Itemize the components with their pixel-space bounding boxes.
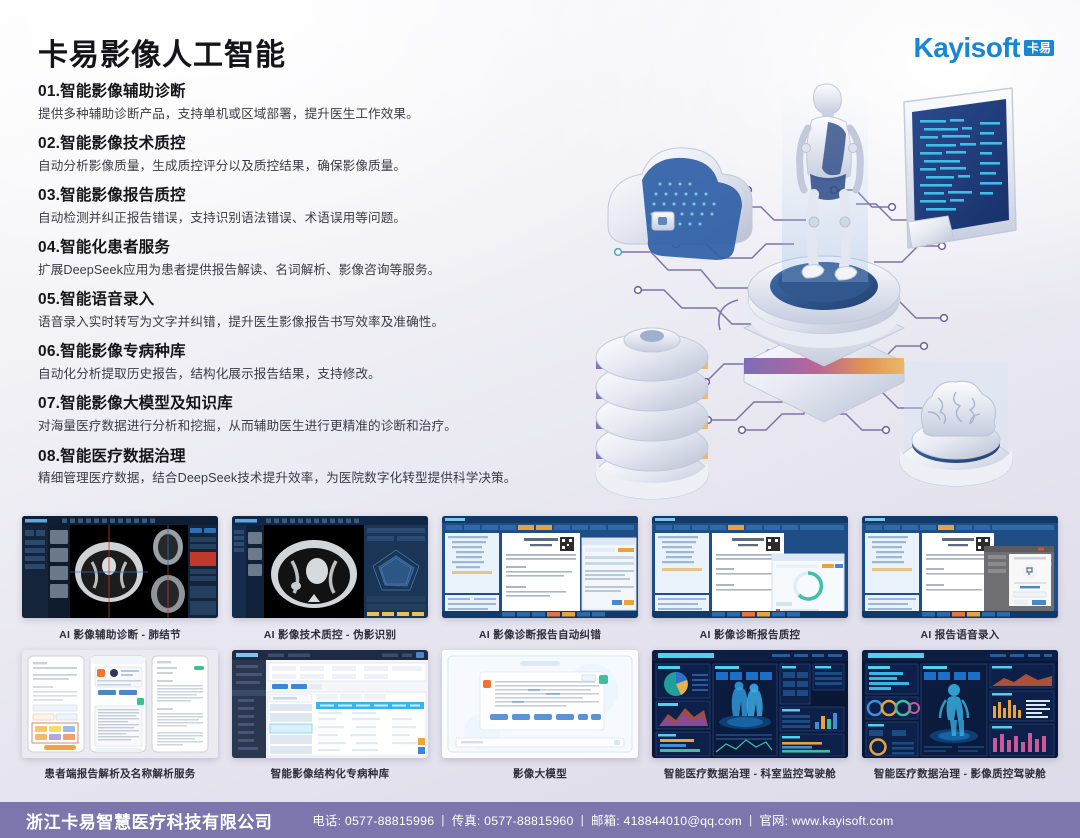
feature-heading: 07.智能影像大模型及知识库 [38,394,558,414]
screenshot-chat-llm[interactable] [442,650,638,758]
feature-item: 05.智能语音录入 语音录入实时转写为文字并纠错，提升医生影像报告书写效率及准确… [38,290,558,331]
code-monitor-icon [904,88,1016,248]
feature-description: 精细管理医疗数据，结合DeepSeek技术提升效率，为医院数字化转型提供科学决策… [38,469,558,487]
ai-isometric-illustration [556,62,1076,510]
gallery-item: AI 影像诊断报告自动纠错 [442,516,638,642]
feature-item: 02.智能影像技术质控 自动分析影像质量，生成质控评分以及质控结果，确保影像质量… [38,134,558,175]
footer-contact-info: 电话: 0577-88815996 | 传真: 0577-88815960 | … [312,811,893,829]
screenshot-report-voice-dialog[interactable] [862,516,1058,618]
gallery-caption: AI 影像辅助诊断 - 肺结节 [59,627,181,642]
footer-fax: 传真: 0577-88815960 [452,811,574,829]
footer-separator: | [441,813,444,827]
feature-item: 06.智能影像专病种库 自动化分析提取历史报告，结构化展示报告结果，支持修改。 [38,342,558,383]
database-stack-icon [596,328,708,499]
screenshot-bi-dashboard-body[interactable] [862,650,1058,758]
feature-description: 扩展DeepSeek应用为患者提供报告解读、名词解析、影像咨询等服务。 [38,261,558,279]
feature-item: 01.智能影像辅助诊断 提供多种辅助诊断产品，支持单机或区域部署，提升医生工作效… [38,82,558,123]
feature-item: 04.智能化患者服务 扩展DeepSeek应用为患者提供报告解读、名词解析、影像… [38,238,558,279]
screenshot-mobile-trio[interactable] [22,650,218,758]
feature-heading: 04.智能化患者服务 [38,238,558,258]
feature-heading: 01.智能影像辅助诊断 [38,82,558,102]
screenshot-ct-radar-dark[interactable] [232,516,428,618]
feature-description: 语音录入实时转写为文字并纠错，提升医生影像报告书写效率及准确性。 [38,313,558,331]
gallery-caption: AI 报告语音录入 [920,627,999,642]
gallery-row-1: AI 影像辅助诊断 - 肺结节 [22,516,1058,642]
logo-cn-badge: 卡易 [1024,40,1054,57]
screenshot-report-editor[interactable] [442,516,638,618]
footer-separator: | [581,813,584,827]
feature-item: 03.智能影像报告质控 自动检测并纠正报告错误，支持识别语法错误、术语误用等问题… [38,186,558,227]
feature-description: 自动化分析提取历史报告，结构化展示报告结果，支持修改。 [38,365,558,383]
footer-separator: | [749,813,752,827]
gallery-item: 影像大模型 [442,650,638,781]
gallery-item: 智能医疗数据治理 - 科室监控驾驶舱 [652,650,848,781]
poster-page: 卡易影像人工智能 Kayisoft 卡易 01.智能影像辅助诊断 提供多种辅助诊… [0,0,1080,838]
gallery-item: AI 影像技术质控 - 伪影识别 [232,516,428,642]
feature-description: 自动分析影像质量，生成质控评分以及质控结果，确保影像质量。 [38,157,558,175]
feature-heading: 05.智能语音录入 [38,290,558,310]
feature-item: 08.智能医疗数据治理 精细管理医疗数据，结合DeepSeek技术提升效率，为医… [38,447,558,488]
feature-item: 07.智能影像大模型及知识库 对海量医疗数据进行分析和挖掘，从而辅助医生进行更精… [38,394,558,435]
footer-bar: 浙江卡易智慧医疗科技有限公司 电话: 0577-88815996 | 传真: 0… [0,802,1080,838]
gallery-caption: 智能影像结构化专病种库 [271,766,390,781]
footer-phone: 电话: 0577-88815996 [312,811,434,829]
feature-heading: 03.智能影像报告质控 [38,186,558,206]
gallery-item: AI 影像辅助诊断 - 肺结节 [22,516,218,642]
feature-heading: 02.智能影像技术质控 [38,134,558,154]
feature-description: 提供多种辅助诊断产品，支持单机或区域部署，提升医生工作效果。 [38,105,558,123]
gallery-caption: 智能医疗数据治理 - 影像质控驾驶舱 [874,766,1046,781]
gallery-caption: 患者端报告解析及名称解析服务 [44,766,195,781]
screenshot-report-gauge[interactable] [652,516,848,618]
gallery-row-2: 患者端报告解析及名称解析服务 [22,650,1058,781]
gallery-caption: AI 影像技术质控 - 伪影识别 [264,627,397,642]
gallery-item: 患者端报告解析及名称解析服务 [22,650,218,781]
gallery-caption: AI 影像诊断报告自动纠错 [479,627,601,642]
logo-wordmark: Kayisoft [914,34,1020,62]
gallery-caption: 智能医疗数据治理 - 科室监控驾驶舱 [664,766,836,781]
screenshot-ct-viewer-dark[interactable] [22,516,218,618]
gallery-caption: AI 影像诊断报告质控 [700,627,801,642]
footer-email: 邮箱: 418844010@qq.com [591,811,742,829]
brain-icon [900,362,1012,486]
feature-heading: 08.智能医疗数据治理 [38,447,558,467]
page-title: 卡易影像人工智能 [38,30,286,74]
feature-description: 对海量医疗数据进行分析和挖掘，从而辅助医生进行更精准的诊断和治疗。 [38,417,558,435]
feature-heading: 06.智能影像专病种库 [38,342,558,362]
brand-logo: Kayisoft 卡易 [914,34,1054,62]
cloud-data-icon [608,148,752,260]
feature-description: 自动检测并纠正报告错误，支持识别语法错误、术语误用等问题。 [38,209,558,227]
footer-website: 官网: www.kayisoft.com [759,811,893,829]
gallery-caption: 影像大模型 [513,766,567,781]
gallery-item: AI 报告语音录入 [862,516,1058,642]
gallery-item: 智能影像结构化专病种库 [232,650,428,781]
gallery-item: 智能医疗数据治理 - 影像质控驾驶舱 [862,650,1058,781]
screenshot-table-console[interactable] [232,650,428,758]
gallery-item: AI 影像诊断报告质控 [652,516,848,642]
feature-list: 01.智能影像辅助诊断 提供多种辅助诊断产品，支持单机或区域部署，提升医生工作效… [38,82,558,499]
footer-company-name: 浙江卡易智慧医疗科技有限公司 [26,808,272,833]
screenshot-bi-dashboard-people[interactable] [652,650,848,758]
